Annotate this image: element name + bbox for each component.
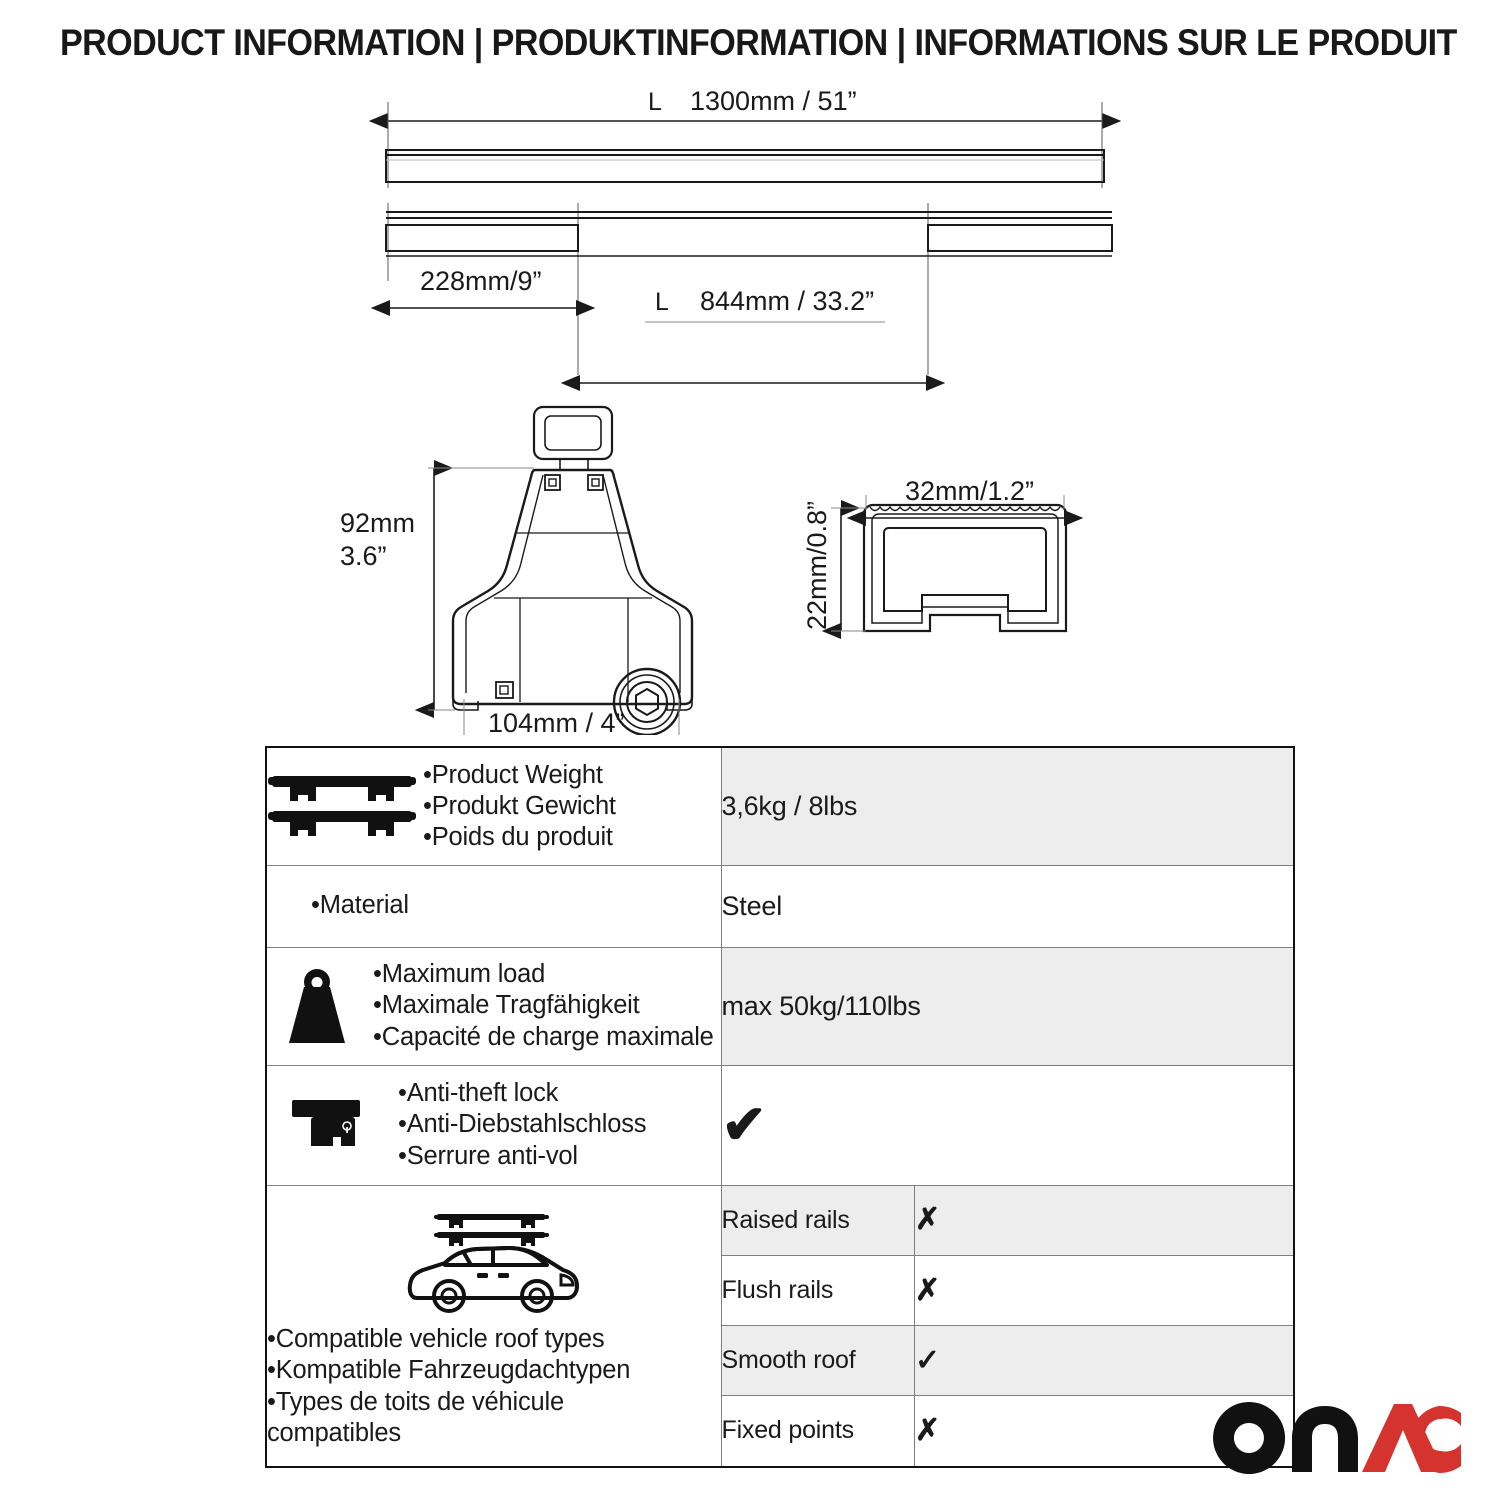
bar-cross-section-view: 32mm/1.2” 22mm/0.8” [802,476,1066,631]
table-row: •Compatible vehicle roof types •Kompatib… [266,1185,1294,1467]
spec-label-de: •Maximale Tragfähigkeit [373,990,714,1021]
foot-offset-label: 228mm/9” [420,266,542,296]
roof-type-mark: ✗ [915,1256,1294,1326]
table-row: •Maximum load •Maximale Tragfähigkeit •C… [266,947,1294,1065]
compatibility-labels: •Compatible vehicle roof types •Kompatib… [267,1324,721,1448]
spec-label-fr: •Poids du produit [423,822,616,853]
compat-label-de: •Kompatible Fahrzeugdachtypen [267,1355,721,1386]
spec-label-fr: •Serrure anti-vol [398,1141,646,1172]
profile-width-label: 32mm/1.2” [905,476,1034,506]
spec-label-cell-maxload: •Maximum load •Maximale Tragfähigkeit •C… [266,947,721,1065]
span-prefix-label: L [655,288,669,316]
compat-label-fr-cont: compatibles [267,1418,721,1449]
mark-glyph: ✗ [915,1203,940,1236]
table-row: •Product Weight •Produkt Gewicht •Poids … [266,747,1294,865]
page-header: PRODUCT INFORMATION | PRODUKTINFORMATION… [0,22,1500,64]
foot-height-mm-label: 92mm [340,508,415,538]
compatibility-label-cell: •Compatible vehicle roof types •Kompatib… [266,1185,721,1467]
table-row: •Material Steel [266,865,1294,947]
specification-table: •Product Weight •Produkt Gewicht •Poids … [265,746,1295,1468]
foot-front-view: 92mm 3.6” 104mm / 4” [340,407,692,735]
mark-glyph: ✗ [915,1274,940,1307]
roof-type-row-fixed: Fixed points ✗ [722,1396,1294,1466]
spec-labels-maxload: •Maximum load •Maximale Tragfähigkeit •C… [373,959,714,1052]
roof-type-table: Raised rails ✗ Flush rails ✗ [722,1186,1294,1466]
foot-offset-dimension: 228mm/9” [390,266,576,308]
omac-logo-svg [1212,1400,1462,1474]
omac-logo [1212,1400,1462,1474]
roof-type-label: Smooth roof [722,1326,915,1396]
roof-type-mark: ✗ [915,1186,1294,1256]
roof-type-row-smooth: Smooth roof ✓ [722,1326,1294,1396]
span-label: 844mm / 33.2” [700,286,874,316]
mark-glyph: ✗ [915,1414,940,1447]
roof-type-row-raised: Raised rails ✗ [722,1186,1294,1256]
spec-label-en: •Product Weight [423,760,616,791]
foot-width-label: 104mm / 4” [488,708,625,735]
span-dimension: L 844mm / 33.2” [580,286,926,383]
spec-value-lock: ✔ [721,1065,1294,1185]
spec-label-de: •Anti-Diebstahlschloss [398,1109,646,1140]
technical-drawing-area: L 1300mm / 51” [0,85,1500,735]
mark-glyph: ✓ [915,1344,940,1377]
total-length-label: 1300mm / 51” [690,86,857,116]
crossbar-top-view [386,150,1104,182]
roof-type-label: Fixed points [722,1396,915,1466]
spec-label-cell-lock: •Anti-theft lock •Anti-Diebstahlschloss … [266,1065,721,1185]
two-crossbars-icon [267,770,417,842]
spec-labels-weight: •Product Weight •Produkt Gewicht •Poids … [423,760,616,853]
spec-value-material: Steel [721,865,1294,947]
roof-type-row-flush: Flush rails ✗ [722,1256,1294,1326]
spec-label-de: •Produkt Gewicht [423,791,616,822]
lock-check-mark: ✔ [722,1095,767,1155]
total-length-dimension: L 1300mm / 51” [388,86,1102,188]
compatibility-options-cell: Raised rails ✗ Flush rails ✗ [721,1185,1294,1467]
table-row: •Anti-theft lock •Anti-Diebstahlschloss … [266,1065,1294,1185]
roof-type-mark: ✓ [915,1326,1294,1396]
weight-icon [267,967,367,1045]
spec-labels-material: •Material [311,890,409,921]
profile-height-label: 22mm/0.8” [802,501,832,630]
spec-label-cell-weight: •Product Weight •Produkt Gewicht •Poids … [266,747,721,865]
car-with-roof-bars-icon [267,1202,721,1320]
spec-label-en: •Material [311,890,409,921]
lock-bar-icon [267,1096,392,1154]
foot-height-in-label: 3.6” [340,541,387,571]
spec-label-cell-material: •Material [266,865,721,947]
roof-type-label: Raised rails [722,1186,915,1256]
spec-label-en: •Anti-theft lock [398,1078,646,1109]
product-information-page: PRODUCT INFORMATION | PRODUKTINFORMATION… [0,0,1500,1500]
spec-label-fr: •Capacité de charge maximale [373,1022,714,1053]
spec-value-weight: 3,6kg / 8lbs [721,747,1294,865]
spec-value-maxload: max 50kg/110lbs [721,947,1294,1065]
compat-label-en: •Compatible vehicle roof types [267,1324,721,1355]
spec-label-en: •Maximum load [373,959,714,990]
spec-labels-lock: •Anti-theft lock •Anti-Diebstahlschloss … [398,1078,646,1171]
compat-label-fr: •Types de toits de véhicule [267,1387,721,1418]
technical-drawings-svg: L 1300mm / 51” [0,85,1500,735]
total-length-prefix-label: L [648,88,662,116]
page-title: PRODUCT INFORMATION | PRODUKTINFORMATION… [60,22,1440,64]
roof-type-label: Flush rails [722,1256,915,1326]
